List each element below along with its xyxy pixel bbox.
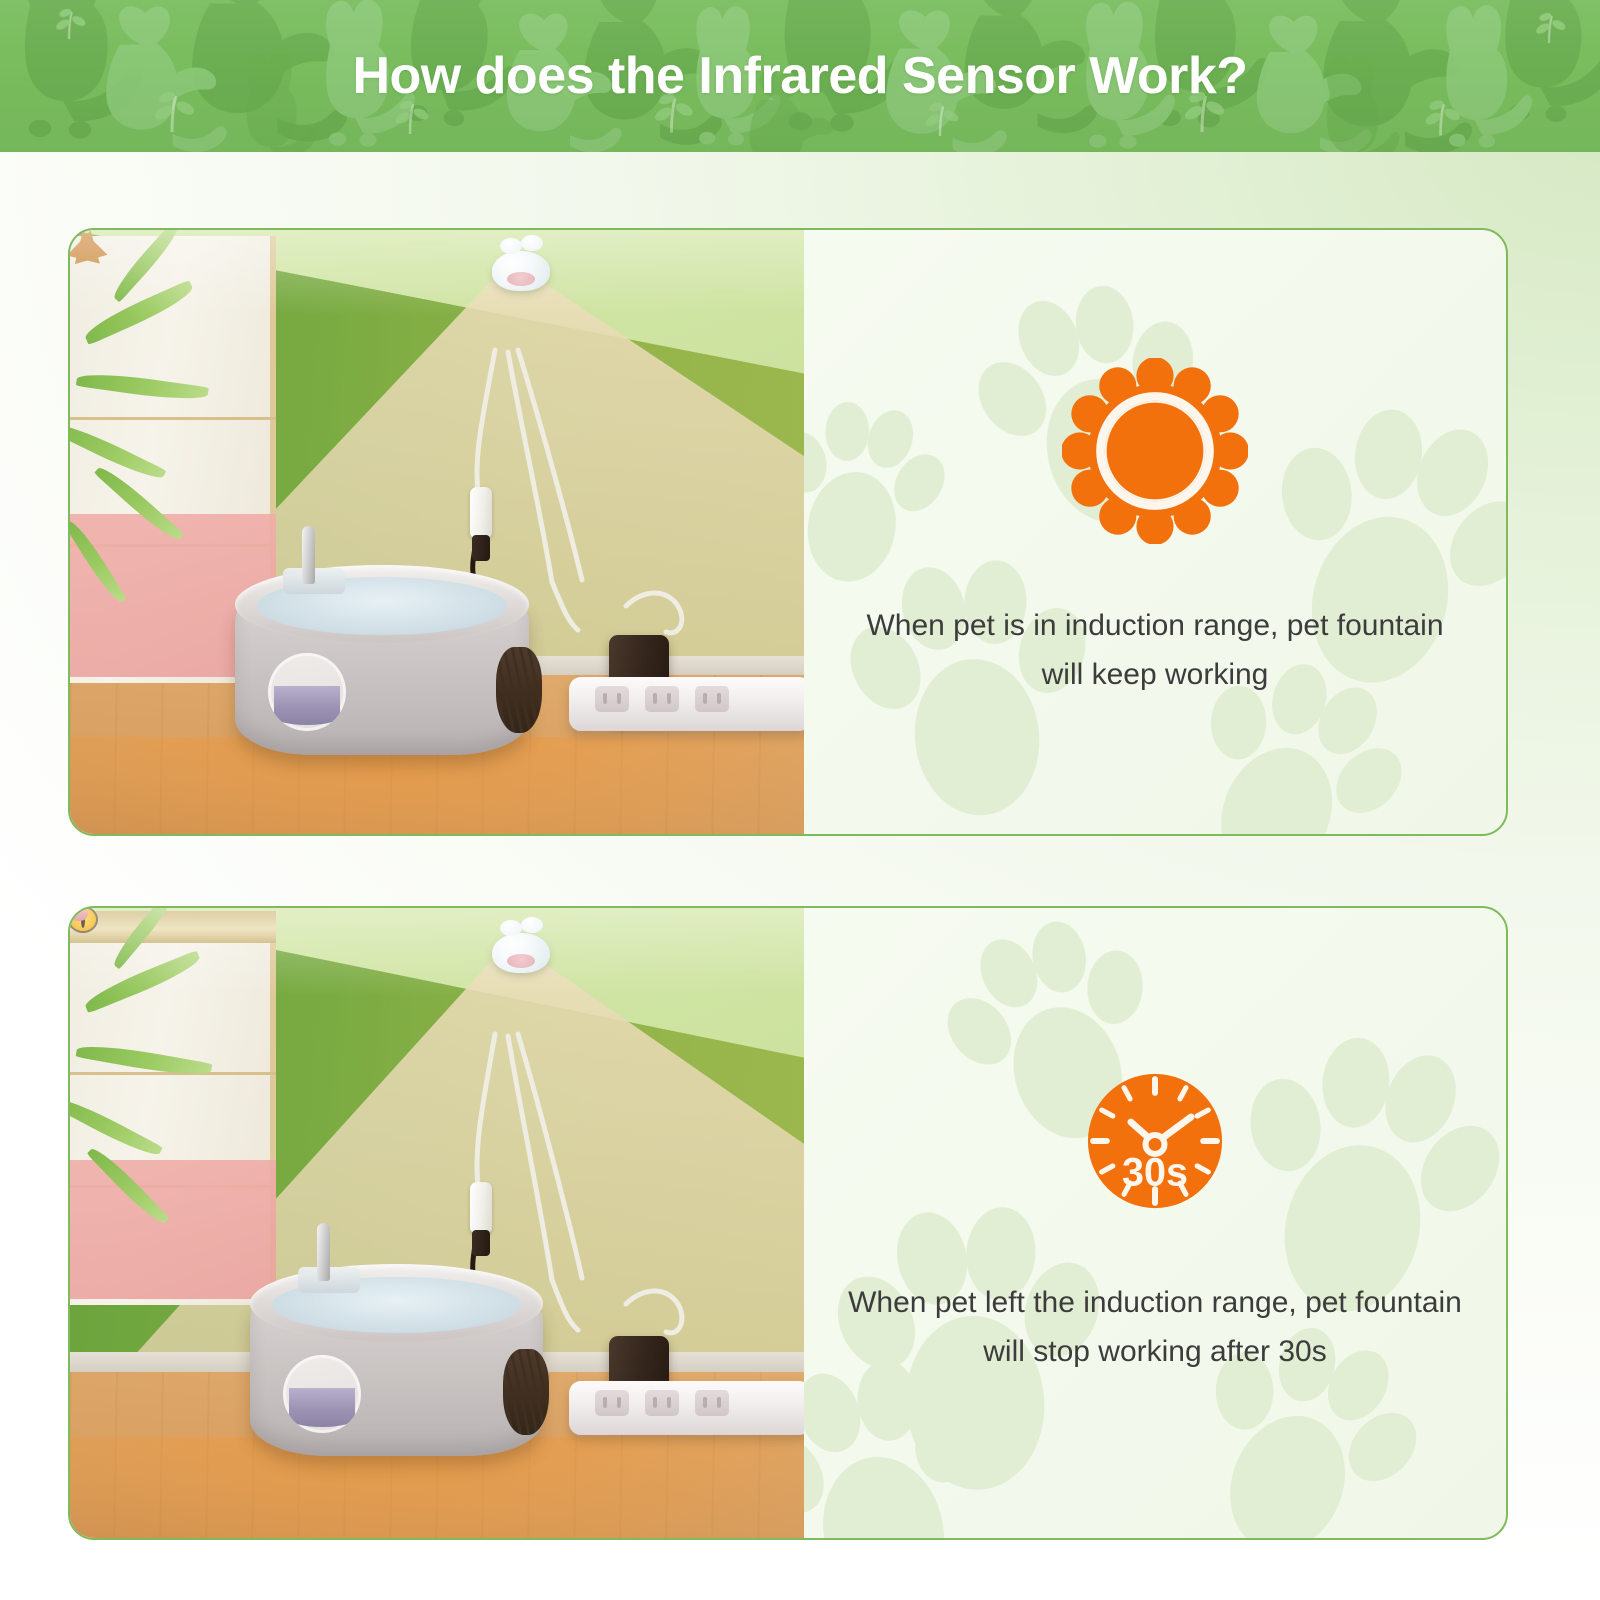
usb-plug bbox=[470, 1182, 492, 1234]
card-out-of-range: 30s When pet left the induction range, p… bbox=[68, 906, 1508, 1540]
rope-toy bbox=[503, 1349, 549, 1435]
clock-30s-icon: 30s bbox=[1069, 1055, 1241, 1227]
infographic-page: How does the Infrared Sensor Work? bbox=[0, 0, 1600, 1600]
caption-in-range: When pet is in induction range, pet foun… bbox=[845, 602, 1465, 699]
usb-plug bbox=[470, 487, 492, 539]
strip-socket bbox=[595, 686, 629, 712]
page-title: How does the Infrared Sensor Work? bbox=[0, 0, 1600, 152]
photo-top-fade bbox=[70, 230, 804, 315]
content-out-of-range: 30s When pet left the induction range, p… bbox=[804, 908, 1506, 1538]
content-in-range: When pet is in induction range, pet foun… bbox=[804, 230, 1506, 834]
flower-badge-icon bbox=[1062, 358, 1248, 544]
strip-socket bbox=[595, 1390, 629, 1416]
power-strip bbox=[569, 1381, 804, 1435]
photo-cat-in-range bbox=[70, 230, 804, 834]
rope-toy bbox=[496, 647, 542, 733]
header-banner: How does the Infrared Sensor Work? bbox=[0, 0, 1600, 152]
strip-socket bbox=[645, 1390, 679, 1416]
photo-top-fade bbox=[70, 908, 804, 996]
card-in-range: When pet is in induction range, pet foun… bbox=[68, 228, 1508, 836]
strip-socket bbox=[645, 686, 679, 712]
fountain-water-window bbox=[283, 1355, 361, 1433]
clock-icon-label: 30s bbox=[1122, 1151, 1188, 1195]
strip-socket bbox=[695, 686, 729, 712]
power-strip bbox=[569, 677, 804, 731]
photo-cat-out-of-range bbox=[70, 908, 804, 1538]
caption-out-of-range: When pet left the induction range, pet f… bbox=[845, 1279, 1465, 1376]
strip-socket bbox=[695, 1390, 729, 1416]
fountain-water-window bbox=[268, 653, 346, 731]
fountain-spout bbox=[317, 1223, 330, 1281]
fountain-spout bbox=[302, 526, 315, 584]
